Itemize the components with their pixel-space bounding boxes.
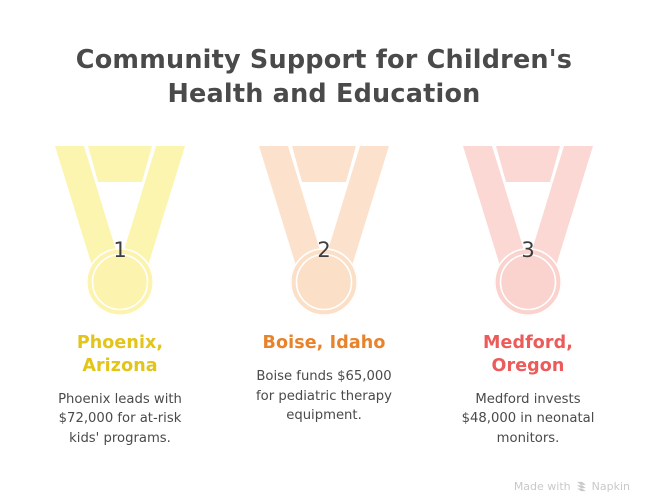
napkin-chevron-icon xyxy=(576,481,587,492)
medal-column-2[interactable]: 2 Boise, Idaho Boise funds $65,000 for p… xyxy=(226,130,422,426)
medal-graphic-1: 1 xyxy=(22,130,218,318)
city-label-2: Boise, Idaho xyxy=(263,332,386,355)
medal-graphic-2: 2 xyxy=(226,130,422,318)
watermark-prefix: Made with xyxy=(514,481,571,492)
medal-column-1[interactable]: 1 Phoenix, Arizona Phoenix leads with $7… xyxy=(22,130,218,449)
city-label-1: Phoenix, Arizona xyxy=(45,332,195,378)
medal-ribbon-icon-3 xyxy=(430,130,626,318)
watermark-brand: Napkin xyxy=(592,481,630,492)
medal-ribbon-icon-2 xyxy=(226,130,422,318)
medal-column-3[interactable]: 3 Medford, Oregon Medford invests $48,00… xyxy=(430,130,626,449)
infographic-canvas: Community Support for Children's Health … xyxy=(0,0,648,504)
city-label-3: Medford, Oregon xyxy=(453,332,603,378)
city-description-3: Medford invests $48,000 in neonatal moni… xyxy=(450,390,606,449)
ribbon-top-bar-2 xyxy=(292,146,356,182)
city-description-2: Boise funds $65,000 for pediatric therap… xyxy=(246,367,402,426)
ribbon-top-bar-1 xyxy=(88,146,152,182)
medal-ribbon-icon-1 xyxy=(22,130,218,318)
medal-columns: 1 Phoenix, Arizona Phoenix leads with $7… xyxy=(0,130,648,449)
medal-graphic-3: 3 xyxy=(430,130,626,318)
page-title: Community Support for Children's Health … xyxy=(0,44,648,111)
ribbon-top-bar-3 xyxy=(496,146,560,182)
city-description-1: Phoenix leads with $72,000 for at-risk k… xyxy=(42,390,198,449)
napkin-watermark[interactable]: Made with Napkin xyxy=(514,481,630,492)
